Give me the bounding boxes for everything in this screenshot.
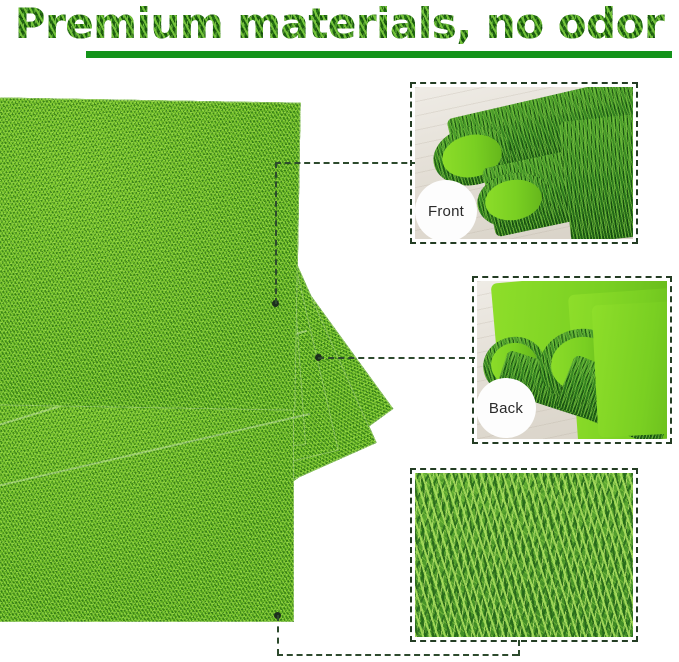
turf-backing-front-face (592, 301, 667, 438)
grass-blades-texture (415, 473, 633, 637)
panel-front[interactable]: Front (410, 82, 638, 244)
page-title: Premium materials, no odor (0, 0, 679, 50)
connector-segment-horizontal (277, 654, 518, 656)
turf-slab-right (559, 113, 633, 239)
title-underline-bar (86, 51, 672, 58)
panel-back[interactable]: Back (472, 276, 672, 444)
connector-segment-vertical (277, 615, 279, 655)
front-badge-label: Front (428, 203, 464, 220)
title-block: Premium materials, no odor (0, 0, 679, 70)
mat-seam (0, 413, 310, 489)
grass-mat-stack (0, 104, 346, 624)
connector-segment-vertical (518, 640, 520, 656)
infographic-canvas: Premium materials, no odor (0, 0, 679, 662)
back-badge-label: Back (489, 400, 523, 417)
connector-segment-vertical (275, 162, 277, 304)
connector-segment-horizontal (318, 357, 475, 359)
closeup-photo (415, 473, 633, 637)
panel-grass-closeup[interactable] (410, 468, 638, 642)
back-badge: Back (476, 378, 536, 438)
grass-mat-square (0, 97, 301, 410)
front-badge: Front (415, 180, 477, 242)
connector-segment-horizontal (275, 162, 417, 164)
